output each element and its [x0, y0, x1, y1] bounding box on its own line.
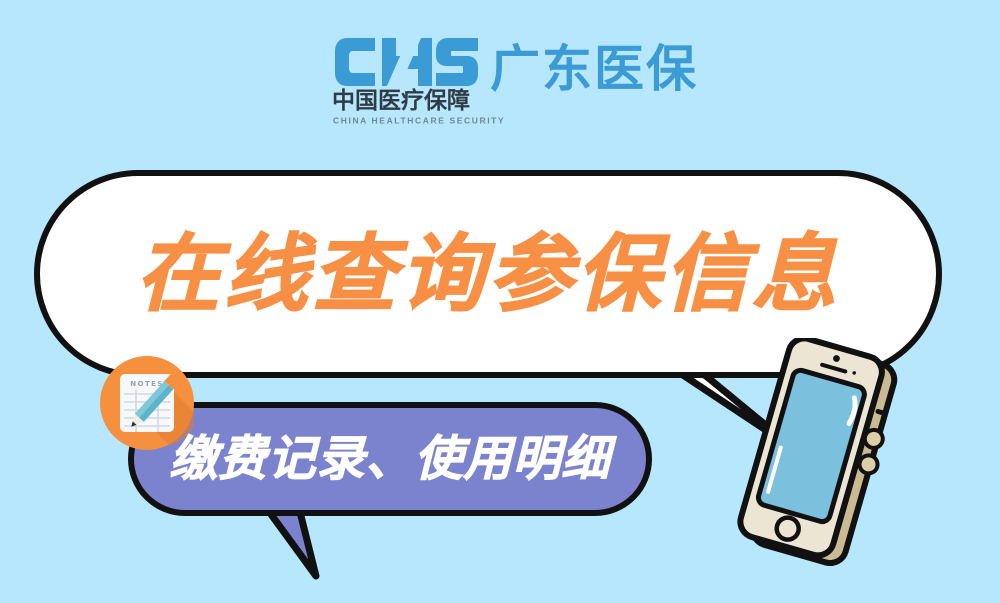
brand-header: 中国医疗保障 CHINA HEALTHCARE SECURITY 广东医保 [330, 36, 730, 136]
brand-name-cn: 中国医疗保障 [332, 88, 470, 114]
notes-pencil-icon: NOTES [100, 356, 194, 450]
chs-logo-icon [334, 36, 480, 88]
brand-name-en: CHINA HEALTHCARE SECURITY [333, 116, 505, 125]
brand-region-name: 广东医保 [490, 42, 698, 96]
brand-mark: 中国医疗保障 CHINA HEALTHCARE SECURITY [330, 36, 482, 132]
subhead-text: 缴费记录、使用明细 [134, 408, 646, 510]
subhead-bubble: 缴费记录、使用明细 [128, 402, 652, 516]
poster-canvas: 中国医疗保障 CHINA HEALTHCARE SECURITY 广东医保 在线… [0, 0, 1000, 603]
notes-label: NOTES [130, 380, 163, 388]
smartphone-icon [718, 338, 918, 566]
